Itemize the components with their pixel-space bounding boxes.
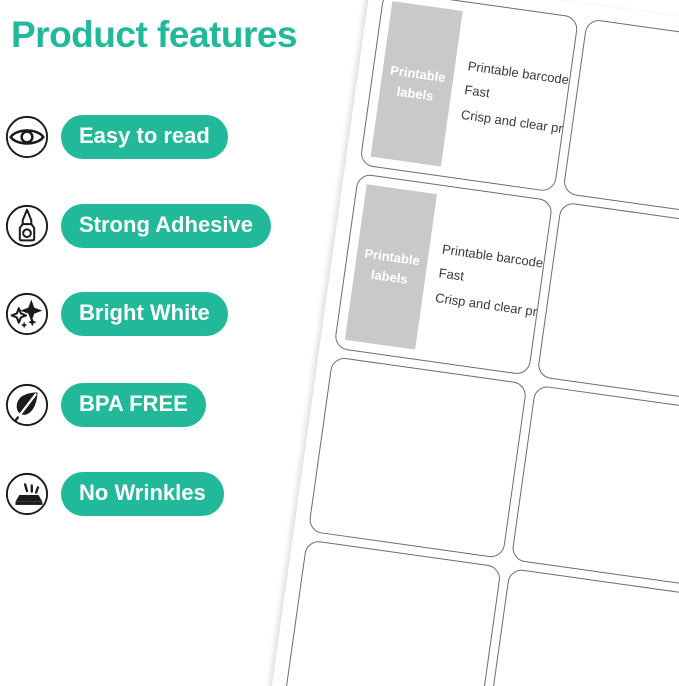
feature-pill-bright-white[interactable]: Bright White — [61, 292, 228, 336]
feature-row-no-wrinkles: No Wrinkles — [4, 470, 224, 518]
leaf-icon — [4, 382, 50, 428]
label-cell-printed: Printable labels Printable barcodes Fast… — [334, 173, 554, 376]
feature-row-bright-white: Bright White — [4, 290, 228, 338]
feature-row-bpa-free: BPA FREE — [4, 381, 206, 429]
sparkles-icon — [4, 291, 50, 337]
feature-row-strong-adhesive: Strong Adhesive — [4, 202, 271, 250]
smooth-surface-icon — [4, 471, 50, 517]
glue-bottle-icon — [4, 203, 50, 249]
label-cell-blank — [537, 202, 679, 405]
features-panel: Product features Easy to read Strong Adh… — [0, 0, 340, 686]
label-cell-blank — [308, 356, 528, 559]
label-swatch-line2: labels — [396, 81, 435, 105]
label-text-lines: Printable barcodes Fast Crisp and clear … — [441, 11, 579, 187]
label-cell-blank — [511, 385, 679, 588]
eye-icon — [4, 114, 50, 160]
label-grid: Printable labels Printable barcodes Fast… — [282, 0, 679, 686]
feature-pill-strong-adhesive[interactable]: Strong Adhesive — [61, 204, 271, 248]
label-cell-printed: Printable labels Printable barcodes Fast… — [359, 0, 579, 193]
label-cell-blank — [485, 568, 679, 686]
product-features-image: Printable labels Printable barcodes Fast… — [0, 0, 679, 686]
label-text-lines: Printable barcodes Fast Crisp and clear … — [415, 194, 553, 370]
feature-row-easy-to-read: Easy to read — [4, 113, 228, 161]
feature-pill-no-wrinkles[interactable]: No Wrinkles — [61, 472, 224, 516]
label-swatch-line2: labels — [370, 264, 409, 288]
feature-pill-easy-to-read[interactable]: Easy to read — [61, 115, 228, 159]
label-cell-blank — [562, 18, 679, 221]
feature-pill-bpa-free[interactable]: BPA FREE — [61, 383, 206, 427]
page-title: Product features — [11, 14, 297, 56]
